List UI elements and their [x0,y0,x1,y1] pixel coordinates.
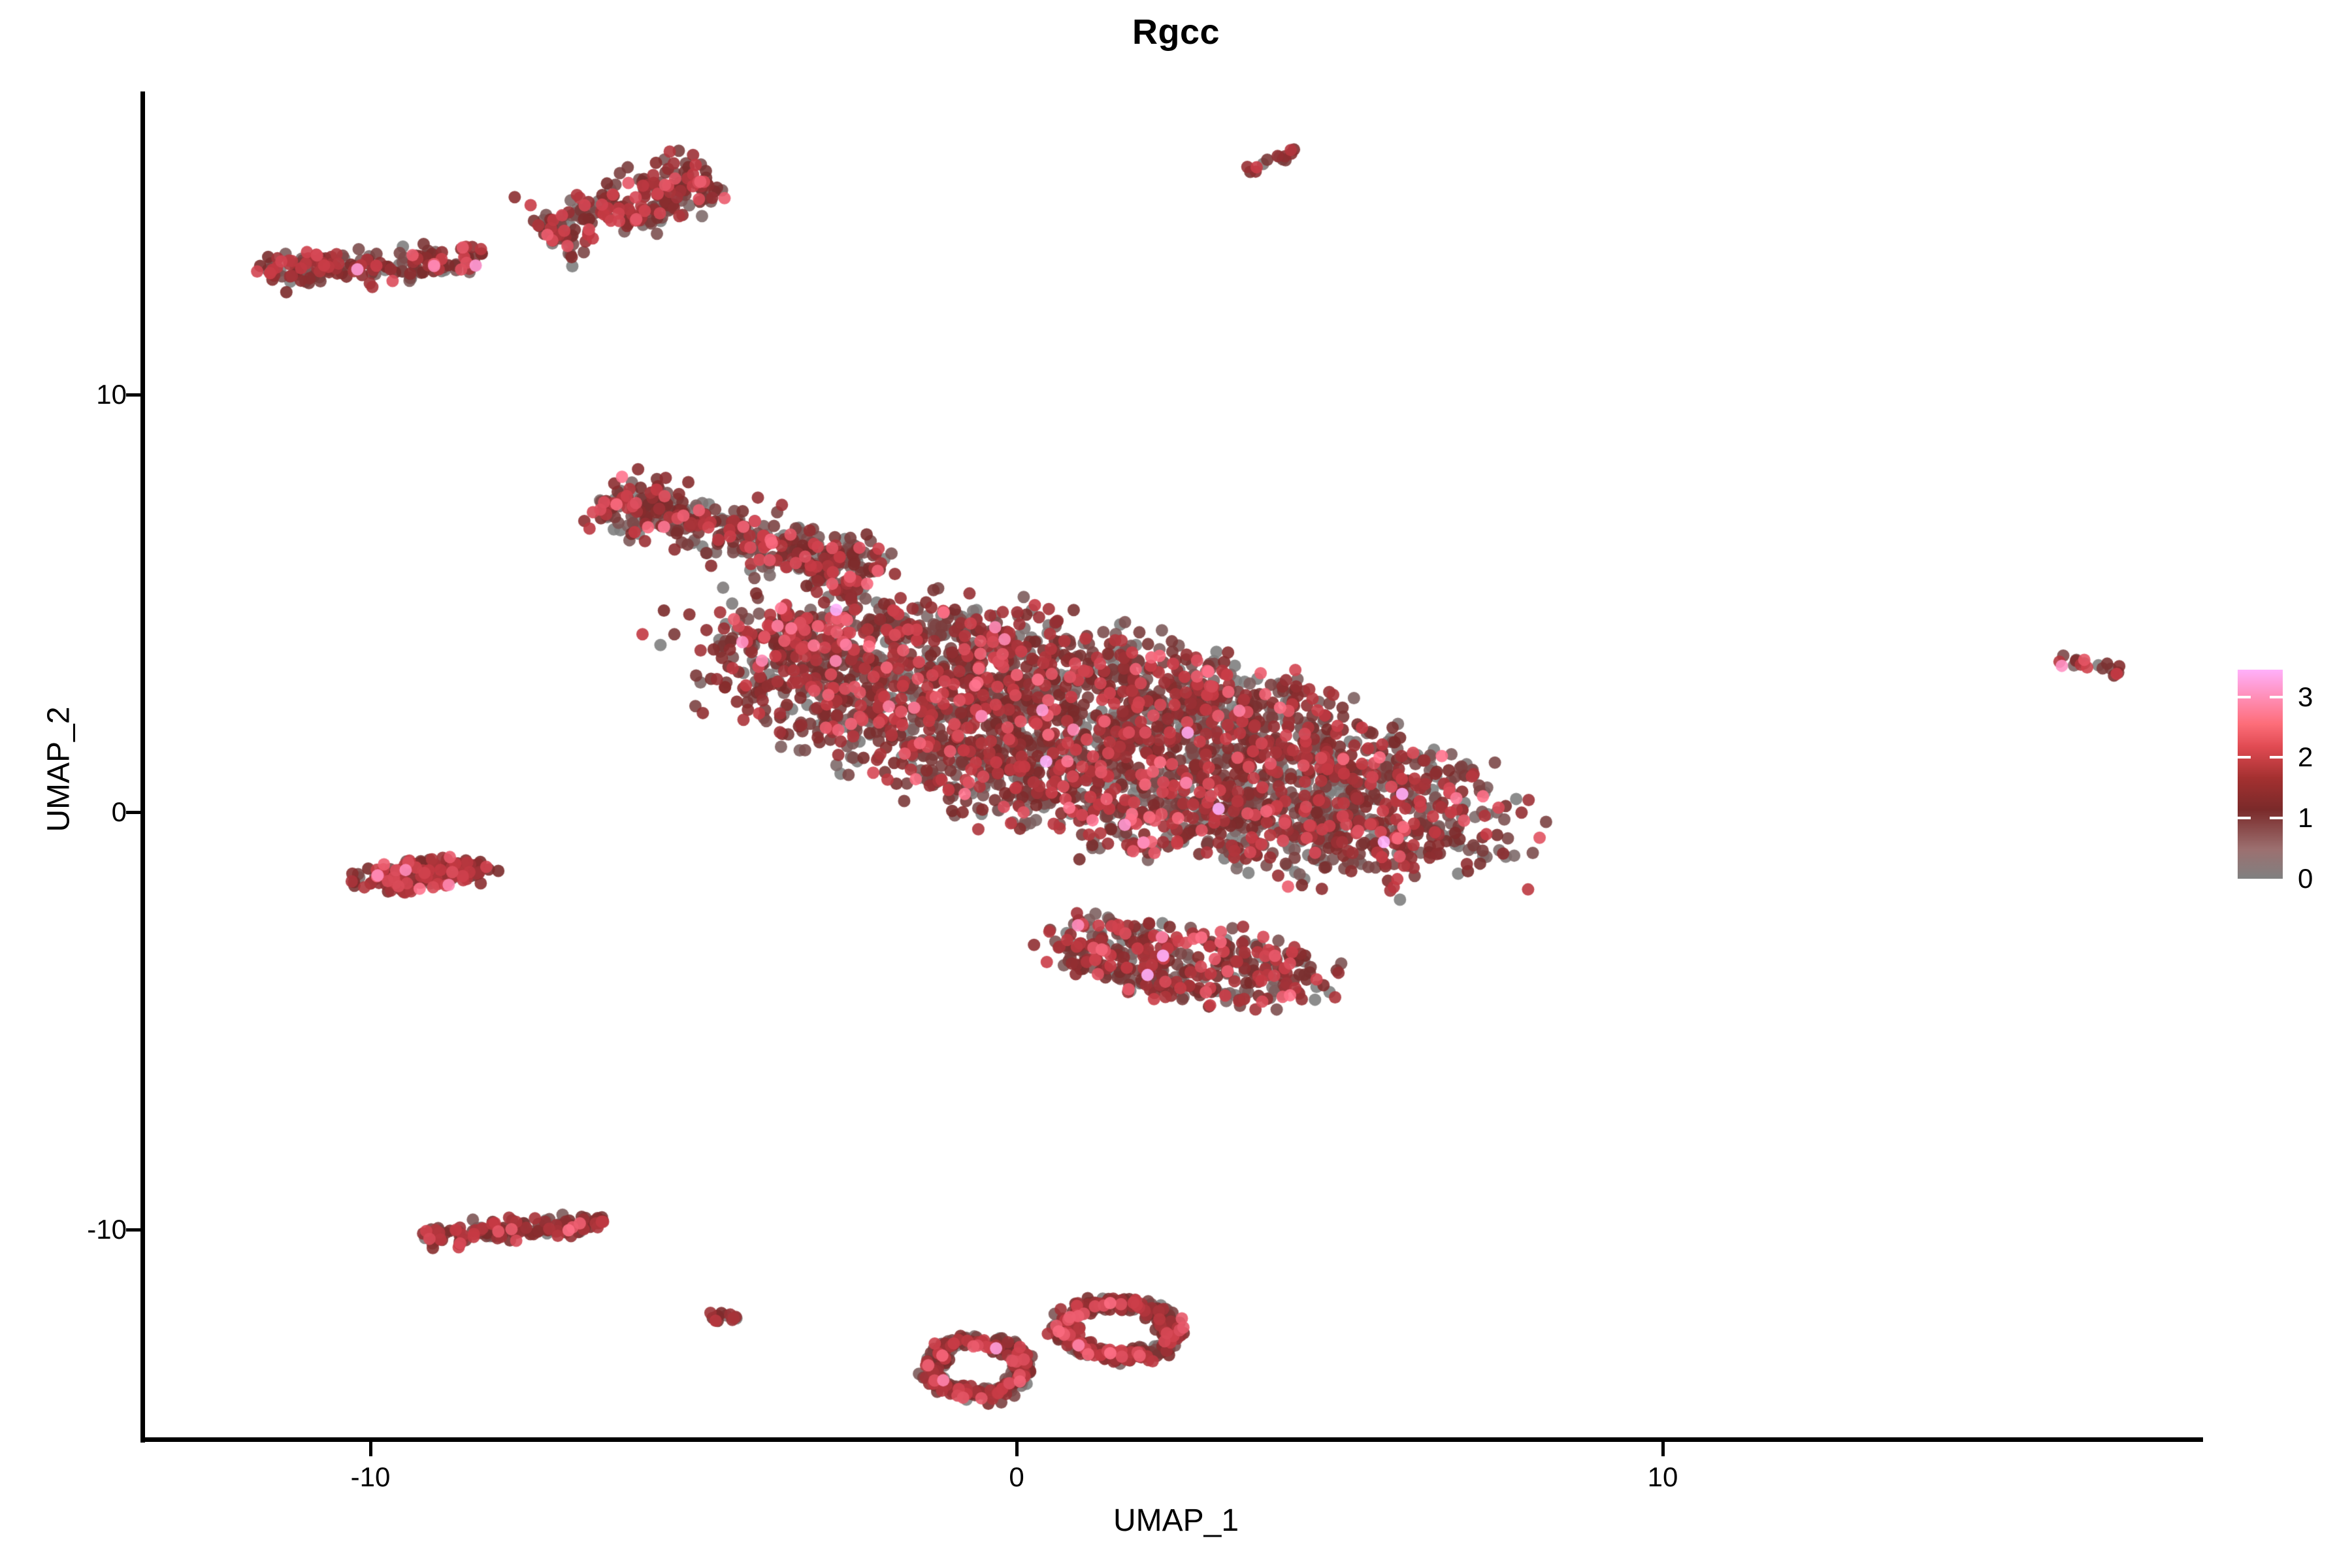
colorbar-tick-mark [2270,817,2283,819]
colorbar-tick-label: 2 [2298,743,2313,771]
y-tick-label: -10 [87,1216,127,1243]
page-title: Rgcc [0,12,2352,52]
x-tick-mark [369,1442,372,1456]
colorbar-tick-mark [2238,756,2251,759]
umap-feature-plot: Rgcc -10010-10010 UMAP_1 UMAP_2 0123 [0,0,2352,1568]
colorbar-tick-mark [2238,817,2251,819]
x-tick-mark [1015,1442,1019,1456]
y-tick-mark [126,811,140,814]
scatter-points-layer [144,91,2203,1440]
color-legend: 0123 [2238,670,2336,885]
colorbar-gradient [2238,670,2283,879]
colorbar-tick-label: 3 [2298,683,2313,711]
y-tick-label: 10 [96,381,127,408]
colorbar-tick-mark [2238,696,2251,698]
y-axis-line [140,91,145,1443]
colorbar-tick-label: 0 [2298,865,2313,892]
x-tick-mark [1661,1442,1665,1456]
y-axis-title: UMAP_2 [41,541,77,998]
colorbar-tick-mark [2270,696,2283,698]
x-tick-label: 0 [951,1463,1082,1491]
x-tick-label: -10 [305,1463,436,1491]
plot-panel [144,91,2203,1440]
y-tick-mark [126,393,140,397]
colorbar-tick-mark [2270,756,2283,759]
x-tick-label: 10 [1597,1463,1728,1491]
y-tick-label: 0 [112,798,127,826]
y-tick-mark [126,1228,140,1232]
x-axis-title: UMAP_1 [0,1503,2352,1539]
x-axis-line [140,1437,2203,1442]
colorbar-tick-label: 1 [2298,804,2313,832]
